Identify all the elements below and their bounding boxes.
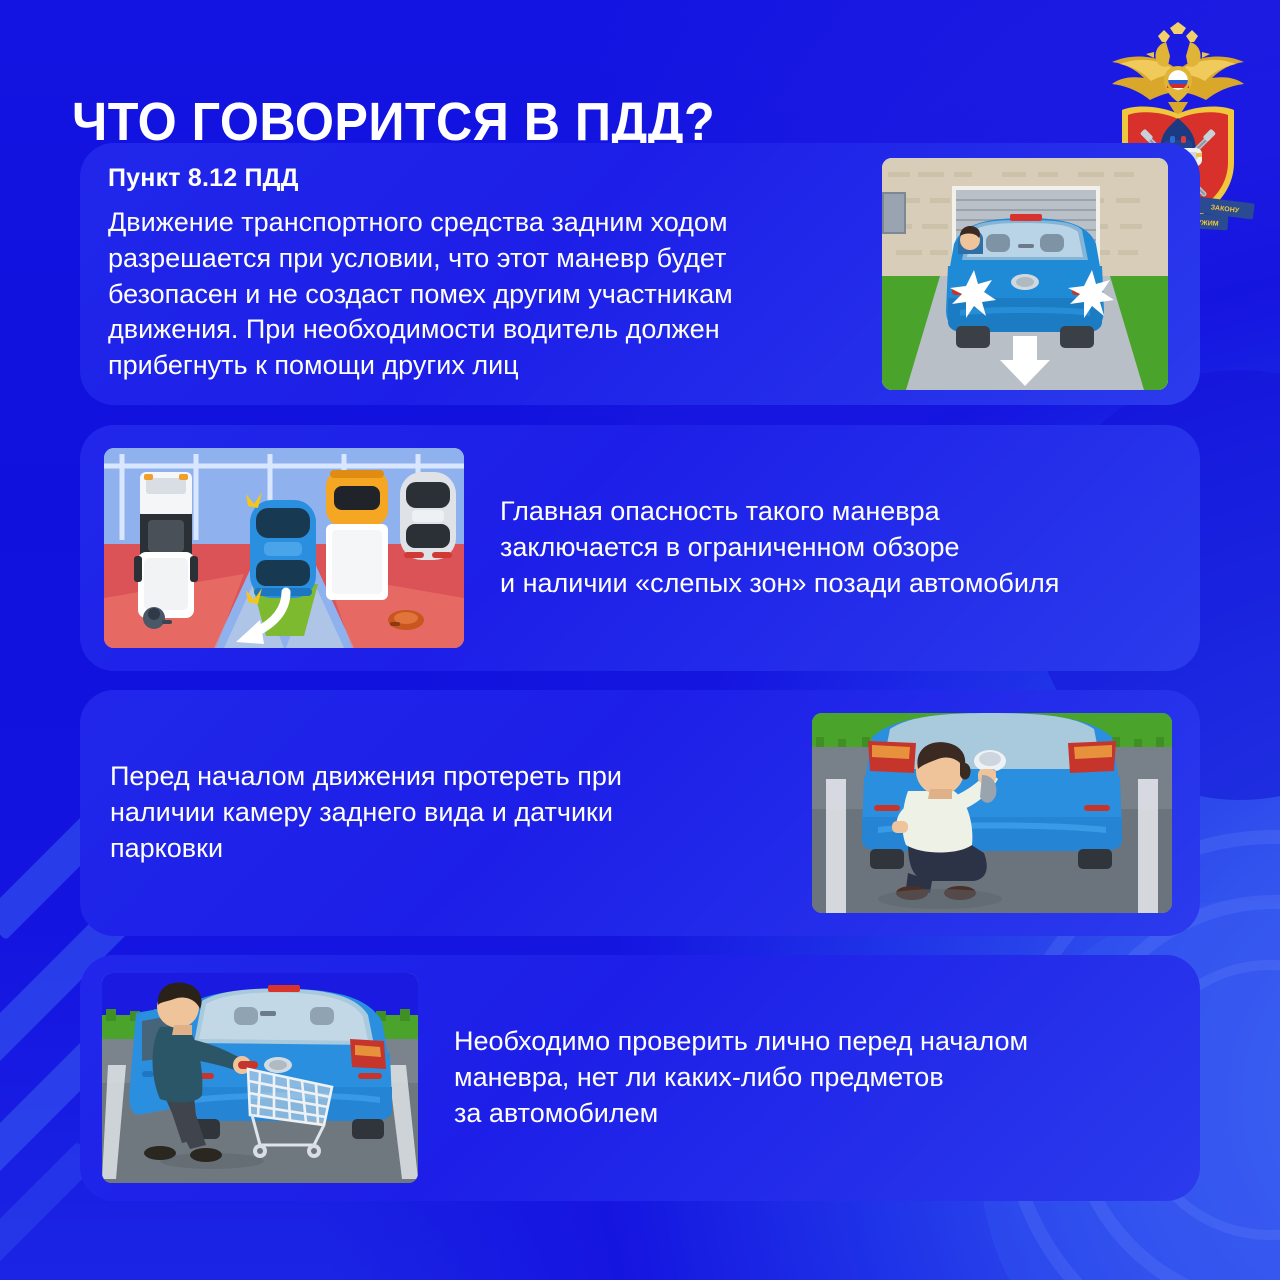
card-clean-camera: Перед началом движения протереть при нал… [80, 690, 1200, 936]
card-2-body: Главная опасность такого маневра заключа… [500, 494, 1200, 602]
card-check-behind: Необходимо проверить лично перед началом… [80, 955, 1200, 1201]
illustration-man-wiping-rear-view-camera [812, 713, 1172, 913]
illustration-car-reversing-out-of-garage [882, 158, 1168, 390]
double-headed-eagle-icon [1112, 22, 1244, 118]
blue-car-reversing-top-view [250, 500, 316, 598]
card-pdd-clause: Пункт 8.12 ПДД Движение транспортного ср… [80, 143, 1200, 405]
white-van-top-view [326, 524, 388, 600]
card-1-kicker: Пункт 8.12 ПДД [108, 164, 868, 193]
card-4-body: Необходимо проверить лично перед началом… [454, 1024, 1174, 1132]
white-truck-top-view [134, 472, 198, 618]
card-1-body: Движение транспортного средства задним х… [108, 205, 868, 385]
card-4-text-block: Необходимо проверить лично перед началом… [454, 1024, 1174, 1132]
infographic-poster: ЧТО ГОВОРИТСЯ В ПДД? [0, 0, 1280, 1280]
card-blind-zones: Главная опасность такого маневра заключа… [80, 425, 1200, 671]
silver-car-top-view [400, 472, 456, 560]
card-1-text-block: Пункт 8.12 ПДД Движение транспортного ср… [80, 164, 868, 385]
card-2-text-block: Главная опасность такого маневра заключа… [500, 494, 1200, 602]
card-3-text-block: Перед началом движения протереть при нал… [110, 759, 760, 867]
card-3-body: Перед началом движения протереть при нал… [110, 759, 760, 867]
orange-car-top-view [326, 470, 388, 526]
illustration-man-with-shopping-cart-behind-car [102, 973, 418, 1183]
obstacle-object-right [388, 610, 424, 630]
illustration-parking-lot-blind-zones-top-view [104, 448, 464, 648]
